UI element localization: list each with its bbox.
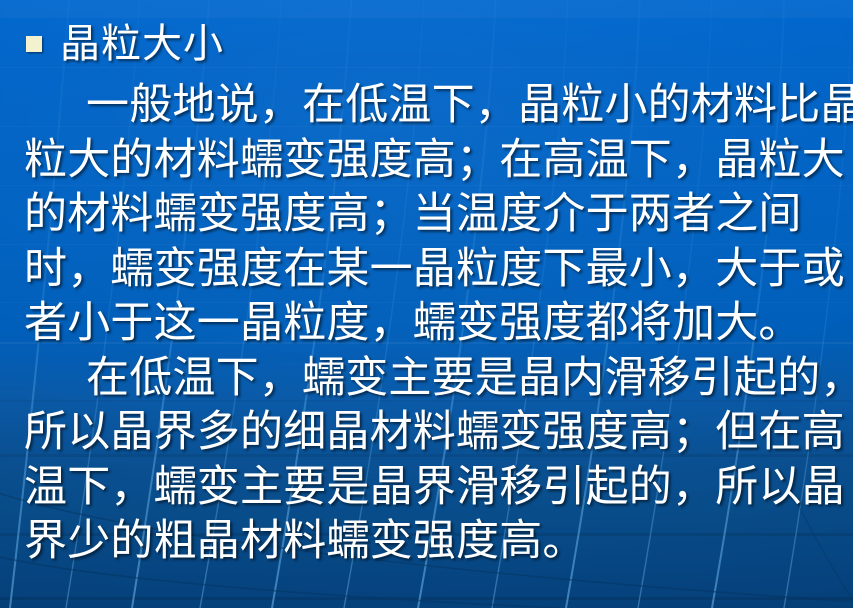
paragraph-1: 一般地说，在低温下，晶粒小的材料比晶 粒大的材料蠕变强度高；在高温下，晶粒大 的… <box>24 78 847 351</box>
paragraph-1-line-2: 粒大的材料蠕变强度高；在高温下，晶粒大 <box>24 133 847 188</box>
paragraph-2: 在低温下，蠕变主要是晶内滑移引起的， 所以晶界多的细晶材料蠕变强度高；但在高 温… <box>24 351 847 569</box>
paragraph-2-line-4: 界少的粗晶材料蠕变强度高。 <box>24 514 847 569</box>
paragraph-2-line-3: 温下，蠕变主要是晶界滑移引起的，所以晶 <box>24 460 847 515</box>
slide-content: 晶粒大小 一般地说，在低温下，晶粒小的材料比晶 粒大的材料蠕变强度高；在高温下，… <box>0 0 853 608</box>
slide-title: 晶粒大小 <box>60 22 224 66</box>
paragraph-1-line-5: 者小于这一晶粒度，蠕变强度都将加大。 <box>24 296 847 351</box>
paragraph-2-line-1: 在低温下，蠕变主要是晶内滑移引起的， <box>24 351 847 406</box>
slide-title-row: 晶粒大小 <box>26 22 224 66</box>
paragraph-2-line-2: 所以晶界多的细晶材料蠕变强度高；但在高 <box>24 405 847 460</box>
paragraph-1-line-4: 时，蠕变强度在某一晶粒度下最小，大于或 <box>24 242 847 297</box>
presentation-slide: 晶粒大小 一般地说，在低温下，晶粒小的材料比晶 粒大的材料蠕变强度高；在高温下，… <box>0 0 853 608</box>
paragraph-1-line-3: 的材料蠕变强度高；当温度介于两者之间 <box>24 187 847 242</box>
slide-body: 一般地说，在低温下，晶粒小的材料比晶 粒大的材料蠕变强度高；在高温下，晶粒大 的… <box>24 78 847 569</box>
bullet-square-icon <box>26 36 42 52</box>
paragraph-1-line-1: 一般地说，在低温下，晶粒小的材料比晶 <box>24 78 847 133</box>
